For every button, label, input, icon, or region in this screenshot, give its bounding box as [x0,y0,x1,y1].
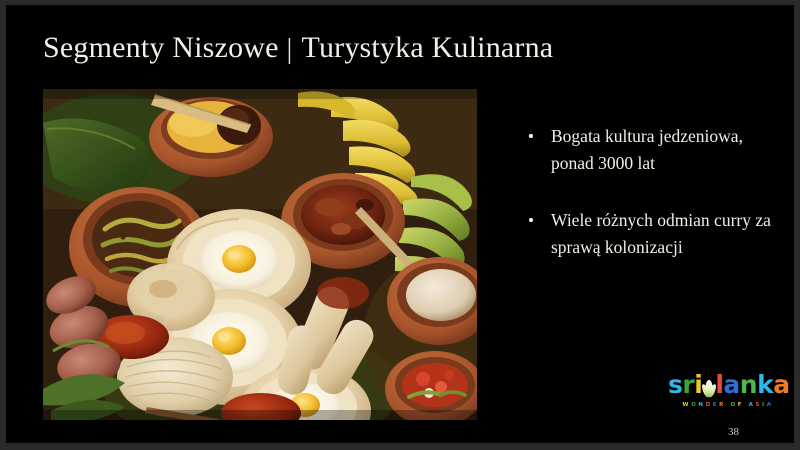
bullet-dot-icon [529,218,533,222]
bullet-list: Bogata kultura jedzeniowa, ponad 3000 la… [522,123,788,261]
logo-letter: a [723,372,739,398]
presentation-slide: Segmenty Niszowe|Turystyka Kulinarna [6,5,794,443]
srilanka-logo-tagline: WONDER OF ASIA [668,402,788,408]
logo-tagline-letter: D [706,402,713,408]
logo-tagline-letter: N [698,402,705,408]
logo-letter: a [773,372,789,398]
logo-letter: r [682,372,694,398]
srilanka-logo: srilanka WONDER OF ASIA [668,372,788,408]
lotus-petal-icon [702,375,715,397]
cuisine-photo [43,89,477,420]
page-title: Segmenty Niszowe|Turystyka Kulinarna [43,31,553,65]
logo-tagline-letter: A [767,402,774,408]
logo-tagline-letter: O [730,402,737,408]
slide-frame: Segmenty Niszowe|Turystyka Kulinarna [0,0,800,450]
page-number: 38 [728,426,739,438]
logo-tagline-letter: R [719,402,726,408]
logo-letter: l [715,372,723,398]
logo-tagline-letter: A [749,402,756,408]
bullet-dot-icon [529,134,533,138]
title-secondary: Turystyka Kulinarna [301,31,553,64]
srilanka-logo-wordmark: srilanka [668,372,788,398]
cuisine-photo-illustration [43,89,477,420]
bullet-text: Bogata kultura jedzeniowa, ponad 3000 la… [551,126,743,173]
bullet-text: Wiele różnych odmian curry za sprawą kol… [551,210,771,257]
title-main: Segmenty Niszowe [43,31,279,64]
logo-letter: n [740,372,757,398]
logo-letter: s [668,372,682,398]
logo-tagline-letter: W [682,402,691,408]
logo-letter: k [757,372,773,398]
logo-tagline-letter: O [691,402,698,408]
title-separator: | [287,34,293,66]
list-item: Bogata kultura jedzeniowa, ponad 3000 la… [522,123,788,177]
list-item: Wiele różnych odmian curry za sprawą kol… [522,207,788,261]
